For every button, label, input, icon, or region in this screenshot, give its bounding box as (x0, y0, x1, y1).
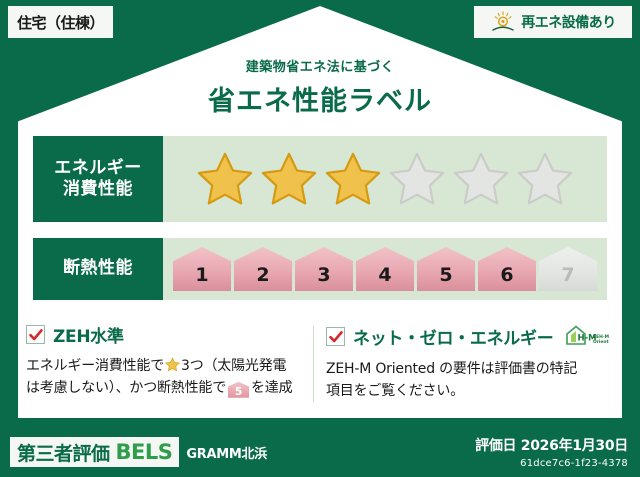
bels-en-label: BELS (116, 440, 173, 464)
zeh-desc-part2: 3つ（太陽光発電 (181, 358, 286, 374)
star-rating (163, 136, 607, 222)
insulation-performance-label-box: 断熱性能 (33, 238, 163, 300)
energy-performance-row: エネルギー 消費性能 (33, 136, 607, 222)
insulation-grade-scale: 1234567 (163, 238, 607, 300)
insulation-grade-1: 1 (173, 247, 231, 291)
energy-performance-label-box: エネルギー 消費性能 (33, 136, 163, 222)
nzeb-desc-part2: 項目をご覧ください。 (326, 383, 464, 399)
footer-bels-group: 第三者評価 BELS GRAMM北浜 (10, 437, 267, 467)
renewable-energy-label: 再エネ設備あり (521, 12, 616, 32)
nzeb-description: ZEH-M Oriented の要件は評価書の特記 項目をご覧ください。 (326, 359, 612, 402)
building-type-badge: 住宅（住棟） (8, 6, 113, 38)
nzeb-desc-part1: ZEH-M Oriented の要件は評価書の特記 (326, 361, 577, 377)
zeh-desc-part3: は考慮しない）、かつ断熱性能で (26, 380, 226, 396)
zeh-title: ZEH水準 (53, 322, 124, 347)
renewable-energy-badge: 再エネ設備あり (474, 6, 632, 38)
star-filled-icon (195, 150, 255, 208)
inline-grade-badge: 5 (228, 382, 249, 398)
energy-label-line1: エネルギー (54, 158, 142, 179)
sun-icon (490, 11, 516, 33)
svg-text:Oriented: Oriented (593, 339, 609, 345)
insulation-grade-7: 7 (539, 247, 597, 291)
zeh-desc-part4: を達成 (251, 380, 292, 396)
star-empty-icon (515, 150, 575, 208)
bels-jp-label: 第三者評価 (17, 439, 110, 466)
zeh-standard-section: ZEH水準 エネルギー消費性能で3つ（太陽光発電 は考慮しない）、かつ断熱性能で… (26, 322, 312, 399)
evaluation-id: 61dce7c6-1f23-4378 (475, 458, 628, 469)
zeh-m-oriented-logo-icon: H-M ZEH-M Oriented (563, 322, 609, 350)
zeh-heading: ZEH水準 (26, 322, 312, 347)
building-name: GRAMM北浜 (186, 443, 267, 462)
star-filled-icon (259, 150, 319, 208)
zeh-checkbox[interactable] (26, 325, 45, 344)
insulation-grade-5: 5 (417, 247, 475, 291)
title-main: 省エネ性能ラベル (0, 79, 640, 118)
nzeb-title: ネット・ゼロ・エネルギー (353, 324, 553, 349)
zeh-description: エネルギー消費性能で3つ（太陽光発電 は考慮しない）、かつ断熱性能で5を達成 (26, 356, 312, 399)
section-divider (313, 326, 314, 402)
star-icon-inline (165, 357, 180, 372)
insulation-grade-3: 3 (295, 247, 353, 291)
star-empty-icon (387, 150, 447, 208)
energy-performance-label: 住宅（住棟） 再エネ設備あり 建築物省エネ法に基づく 省エネ性能ラベル (0, 0, 640, 477)
bels-plate: 第三者評価 BELS (10, 437, 179, 467)
net-zero-energy-section: ネット・ゼロ・エネルギー H-M ZEH-M Oriented ZEH-M Or… (326, 322, 612, 402)
insulation-grade-6: 6 (478, 247, 536, 291)
label-title-group: 建築物省エネ法に基づく 省エネ性能ラベル (0, 56, 640, 118)
nzeb-checkbox[interactable] (326, 327, 345, 346)
insulation-label-line1: 断熱性能 (63, 258, 133, 279)
energy-label-line2: 消費性能 (63, 179, 133, 200)
insulation-grade-4: 4 (356, 247, 414, 291)
footer-eval-group: 評価日 2026年1月30日 61dce7c6-1f23-4378 (475, 435, 628, 469)
zeh-desc-part1: エネルギー消費性能で (26, 358, 164, 374)
insulation-performance-row: 断熱性能 1234567 (33, 238, 607, 300)
evaluation-date: 評価日 2026年1月30日 (475, 435, 628, 455)
title-subtitle: 建築物省エネ法に基づく (0, 56, 640, 75)
star-filled-icon (323, 150, 383, 208)
star-empty-icon (451, 150, 511, 208)
nzeb-heading: ネット・ゼロ・エネルギー H-M ZEH-M Oriented (326, 322, 612, 350)
building-type-label: 住宅（住棟） (17, 12, 104, 33)
insulation-grade-2: 2 (234, 247, 292, 291)
grade-badge-list: 1234567 (173, 247, 597, 291)
